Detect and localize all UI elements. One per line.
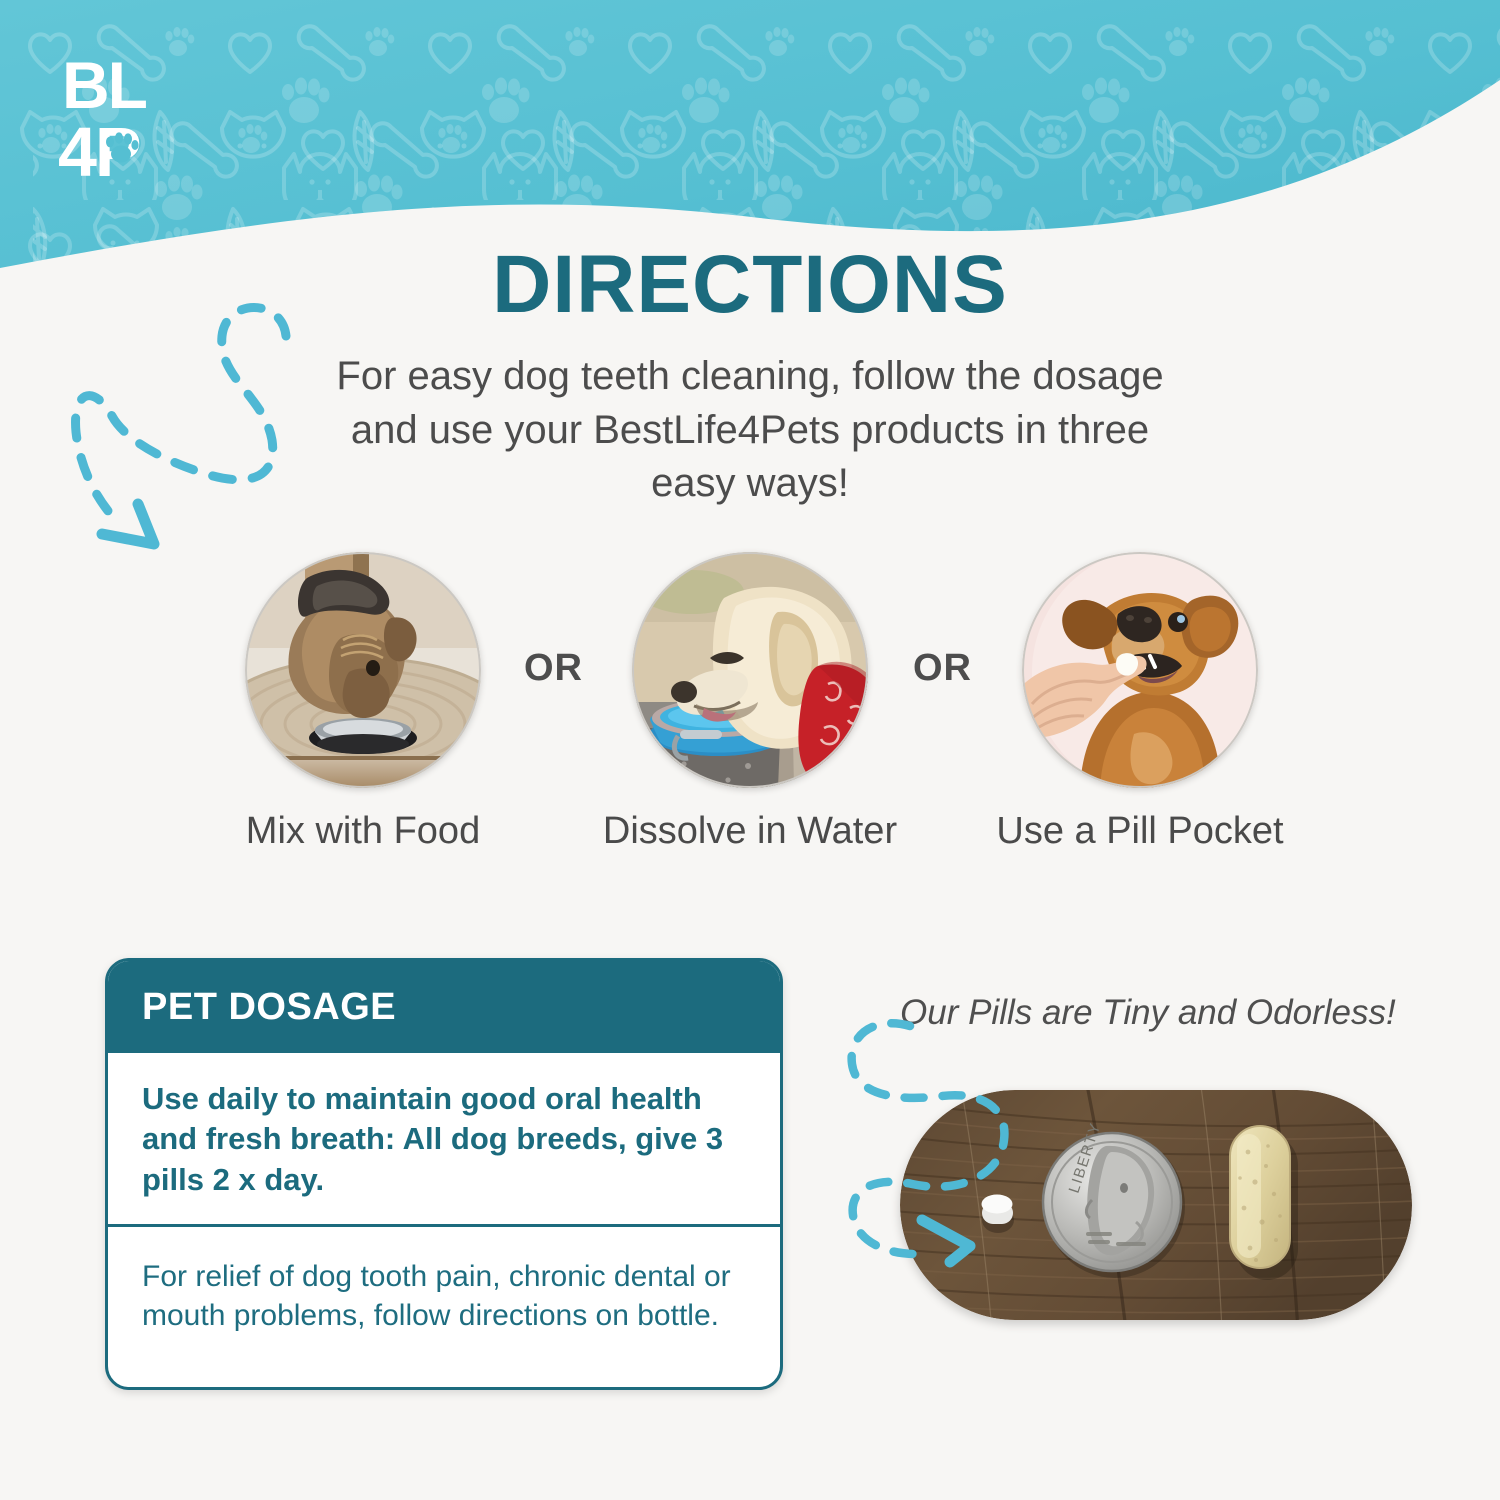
- pet-dosage-secondary-text: For relief of dog tooth pain, chronic de…: [108, 1227, 780, 1335]
- or-separator-1: OR: [524, 647, 583, 690]
- pet-dosage-title: PET DOSAGE: [142, 986, 396, 1029]
- arrowhead-icon: [922, 1220, 970, 1262]
- dashed-curved-arrow-top-left: [50, 292, 310, 567]
- pet-dosage-card-header: PET DOSAGE: [108, 961, 780, 1053]
- hand-feeding-pill-to-dog-photo: [1022, 552, 1258, 788]
- method-item-mix-with-food: Mix with Food: [245, 552, 481, 788]
- methods-row: Mix with Food OR: [0, 552, 1500, 862]
- beige-capsule-pill: [1230, 1126, 1298, 1280]
- page-subtitle: For easy dog teeth cleaning, follow the …: [330, 350, 1170, 511]
- logo-text-top: BL: [62, 48, 147, 122]
- pet-dosage-card: PET DOSAGE Use daily to maintain good or…: [105, 958, 783, 1390]
- dog-eating-from-bowl-photo: [245, 552, 481, 788]
- dashed-curved-arrow-pills: [838, 1008, 1068, 1273]
- method-label: Mix with Food: [185, 810, 541, 853]
- brand-logo: BL 4P: [58, 46, 178, 186]
- method-label: Use a Pill Pocket: [962, 810, 1318, 853]
- dog-drinking-from-blue-bowl-photo: [632, 552, 868, 788]
- method-label: Dissolve in Water: [572, 810, 928, 853]
- infographic-root: BL 4P BL 4P DIRECTIONS For easy dog teet…: [0, 0, 1500, 1500]
- method-item-dissolve-in-water: Dissolve in Water: [632, 552, 868, 788]
- or-separator-2: OR: [913, 647, 972, 690]
- pet-dosage-primary-text: Use daily to maintain good oral health a…: [108, 1053, 780, 1227]
- method-item-use-a-pill-pocket: Use a Pill Pocket: [1022, 552, 1258, 788]
